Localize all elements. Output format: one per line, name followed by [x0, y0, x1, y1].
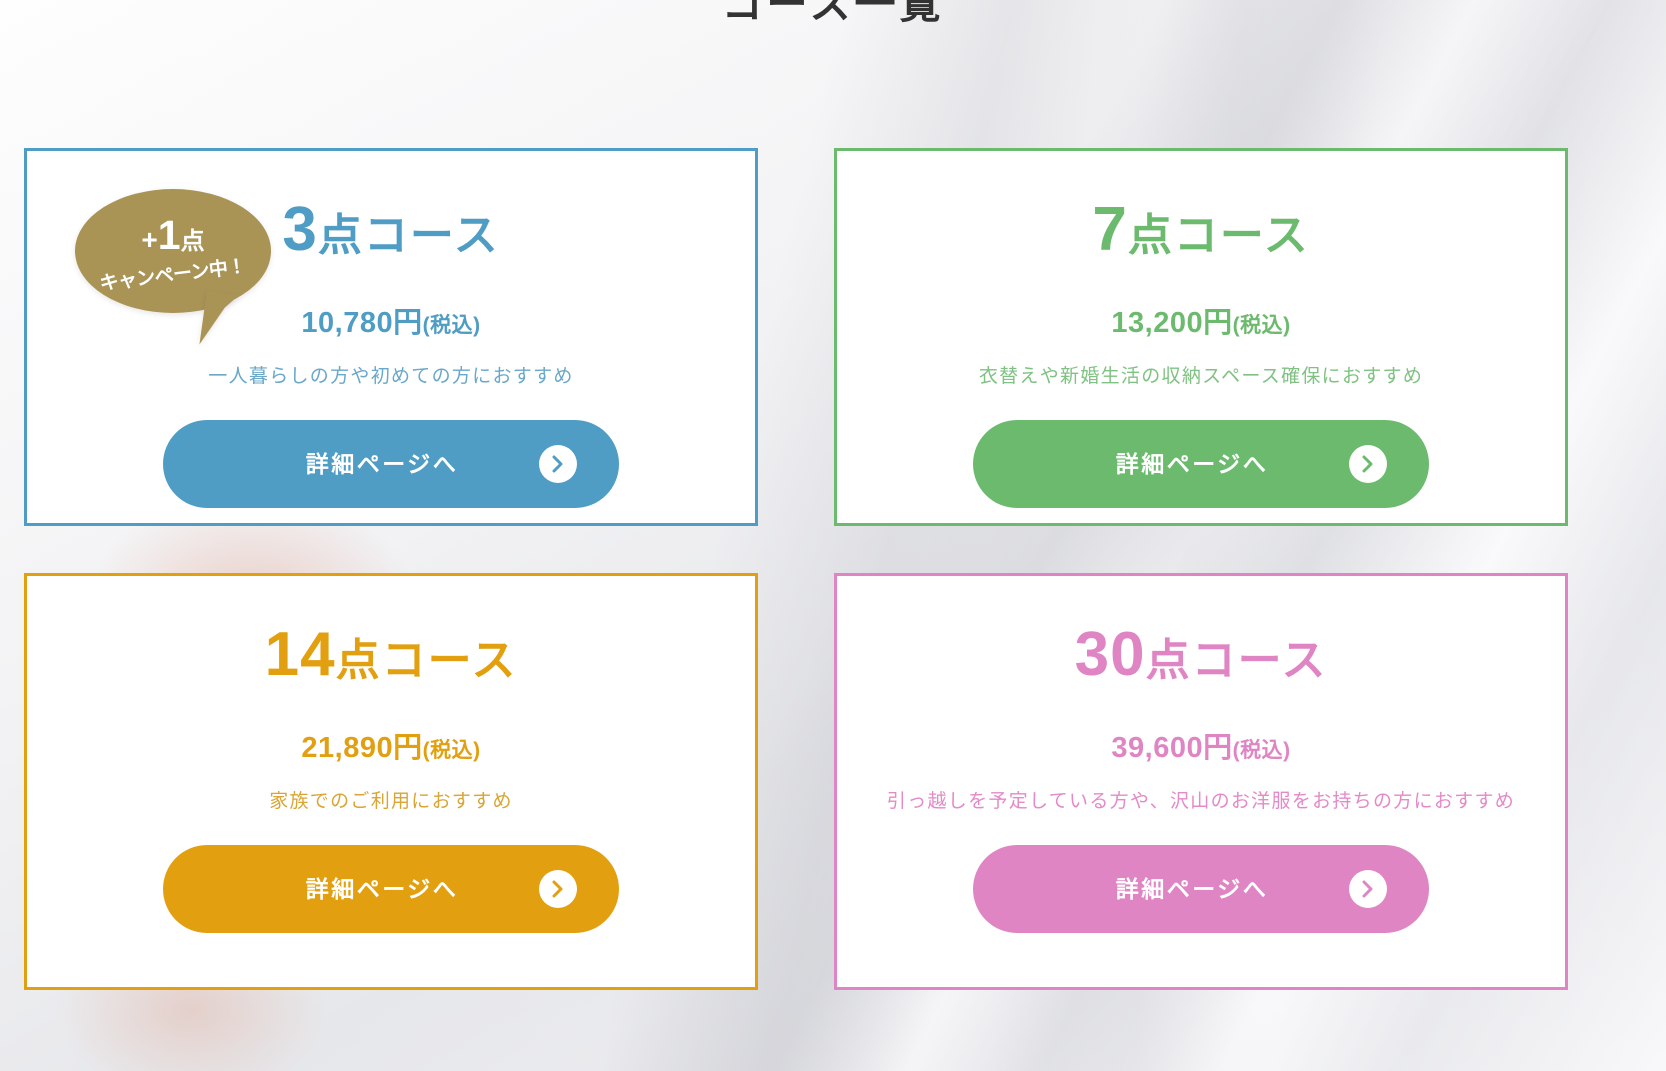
course-card-14[interactable]: 14点コース 21,890円(税込) 家族でのご利用におすすめ 詳細ページへ — [24, 573, 758, 990]
detail-page-button-label-7: 詳細ページへ — [1116, 451, 1269, 477]
course-unit-14: 点コース — [336, 636, 518, 685]
course-price-14: 21,890円(税込) — [27, 724, 755, 766]
course-price-value-7: 13,200円 — [1111, 307, 1232, 339]
course-unit-7: 点コース — [1128, 211, 1310, 260]
course-price-7: 13,200円(税込) — [837, 299, 1565, 341]
chevron-right-icon — [1349, 870, 1387, 908]
chevron-right-icon — [539, 445, 577, 483]
campaign-badge-number: 1 — [158, 212, 181, 258]
course-number-3: 3 — [282, 195, 317, 264]
course-description-7: 衣替えや新婚生活の収納スペース確保におすすめ — [871, 361, 1531, 392]
course-list-page: コース一覧 +1点 キャンペーン中！ 3点コース 10,780円(税込) 一人暮… — [0, 0, 1666, 1071]
course-price-30: 39,600円(税込) — [837, 724, 1565, 766]
course-number-30: 30 — [1075, 620, 1146, 689]
page-title: コース一覧 — [0, 0, 1666, 30]
course-title-30: 30点コース — [837, 624, 1565, 686]
course-unit-30: 点コース — [1146, 636, 1328, 685]
course-price-tax-3: (税込) — [423, 314, 481, 337]
course-price-tax-7: (税込) — [1233, 314, 1291, 337]
detail-page-button-14[interactable]: 詳細ページへ — [163, 845, 619, 933]
campaign-badge-bubble: +1点 キャンペーン中！ — [75, 189, 271, 313]
course-price-value-3: 10,780円 — [301, 307, 422, 339]
course-price-value-14: 21,890円 — [301, 732, 422, 764]
course-number-7: 7 — [1092, 195, 1127, 264]
campaign-badge-plus: + — [141, 224, 157, 255]
course-description-14: 家族でのご利用におすすめ — [61, 786, 721, 817]
course-number-14: 14 — [265, 620, 336, 689]
course-description-3: 一人暮らしの方や初めての方におすすめ — [61, 361, 721, 392]
chevron-right-icon — [1349, 445, 1387, 483]
course-title-7: 7点コース — [837, 199, 1565, 261]
detail-page-button-label-30: 詳細ページへ — [1116, 876, 1269, 902]
course-price-tax-14: (税込) — [423, 739, 481, 762]
course-title-14: 14点コース — [27, 624, 755, 686]
detail-page-button-30[interactable]: 詳細ページへ — [973, 845, 1429, 933]
campaign-badge: +1点 キャンペーン中！ — [75, 189, 271, 313]
campaign-badge-line1: +1点 — [141, 215, 204, 256]
detail-page-button-3[interactable]: 詳細ページへ — [163, 420, 619, 508]
chevron-right-icon — [539, 870, 577, 908]
course-card-3[interactable]: +1点 キャンペーン中！ 3点コース 10,780円(税込) 一人暮らしの方や初… — [24, 148, 758, 526]
detail-page-button-7[interactable]: 詳細ページへ — [973, 420, 1429, 508]
course-card-grid: +1点 キャンペーン中！ 3点コース 10,780円(税込) 一人暮らしの方や初… — [24, 148, 1642, 990]
course-price-value-30: 39,600円 — [1111, 732, 1232, 764]
course-description-30: 引っ越しを予定している方や、沢山のお洋服をお持ちの方におすすめ — [881, 786, 1521, 817]
campaign-badge-unit: 点 — [181, 228, 205, 255]
detail-page-button-label-3: 詳細ページへ — [306, 451, 459, 477]
course-card-30[interactable]: 30点コース 39,600円(税込) 引っ越しを予定している方や、沢山のお洋服を… — [834, 573, 1568, 990]
course-price-tax-30: (税込) — [1233, 739, 1291, 762]
course-card-7[interactable]: 7点コース 13,200円(税込) 衣替えや新婚生活の収納スペース確保におすすめ… — [834, 148, 1568, 526]
detail-page-button-label-14: 詳細ページへ — [306, 876, 459, 902]
course-unit-3: 点コース — [318, 211, 500, 260]
